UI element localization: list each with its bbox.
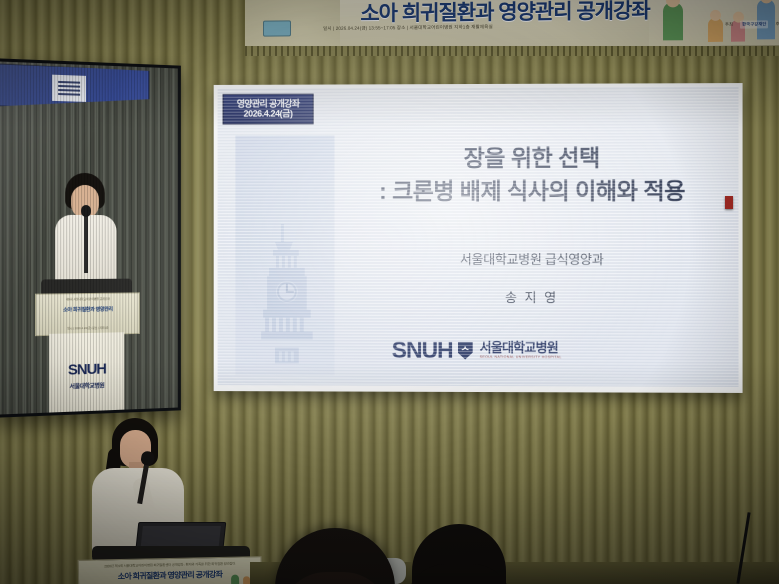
- scene-vignette: [0, 0, 779, 584]
- lecture-hall-scene: 소아 희귀질환과 영양관리 공개강좌 일시 | 2026.04.24(금) 13…: [0, 0, 779, 584]
